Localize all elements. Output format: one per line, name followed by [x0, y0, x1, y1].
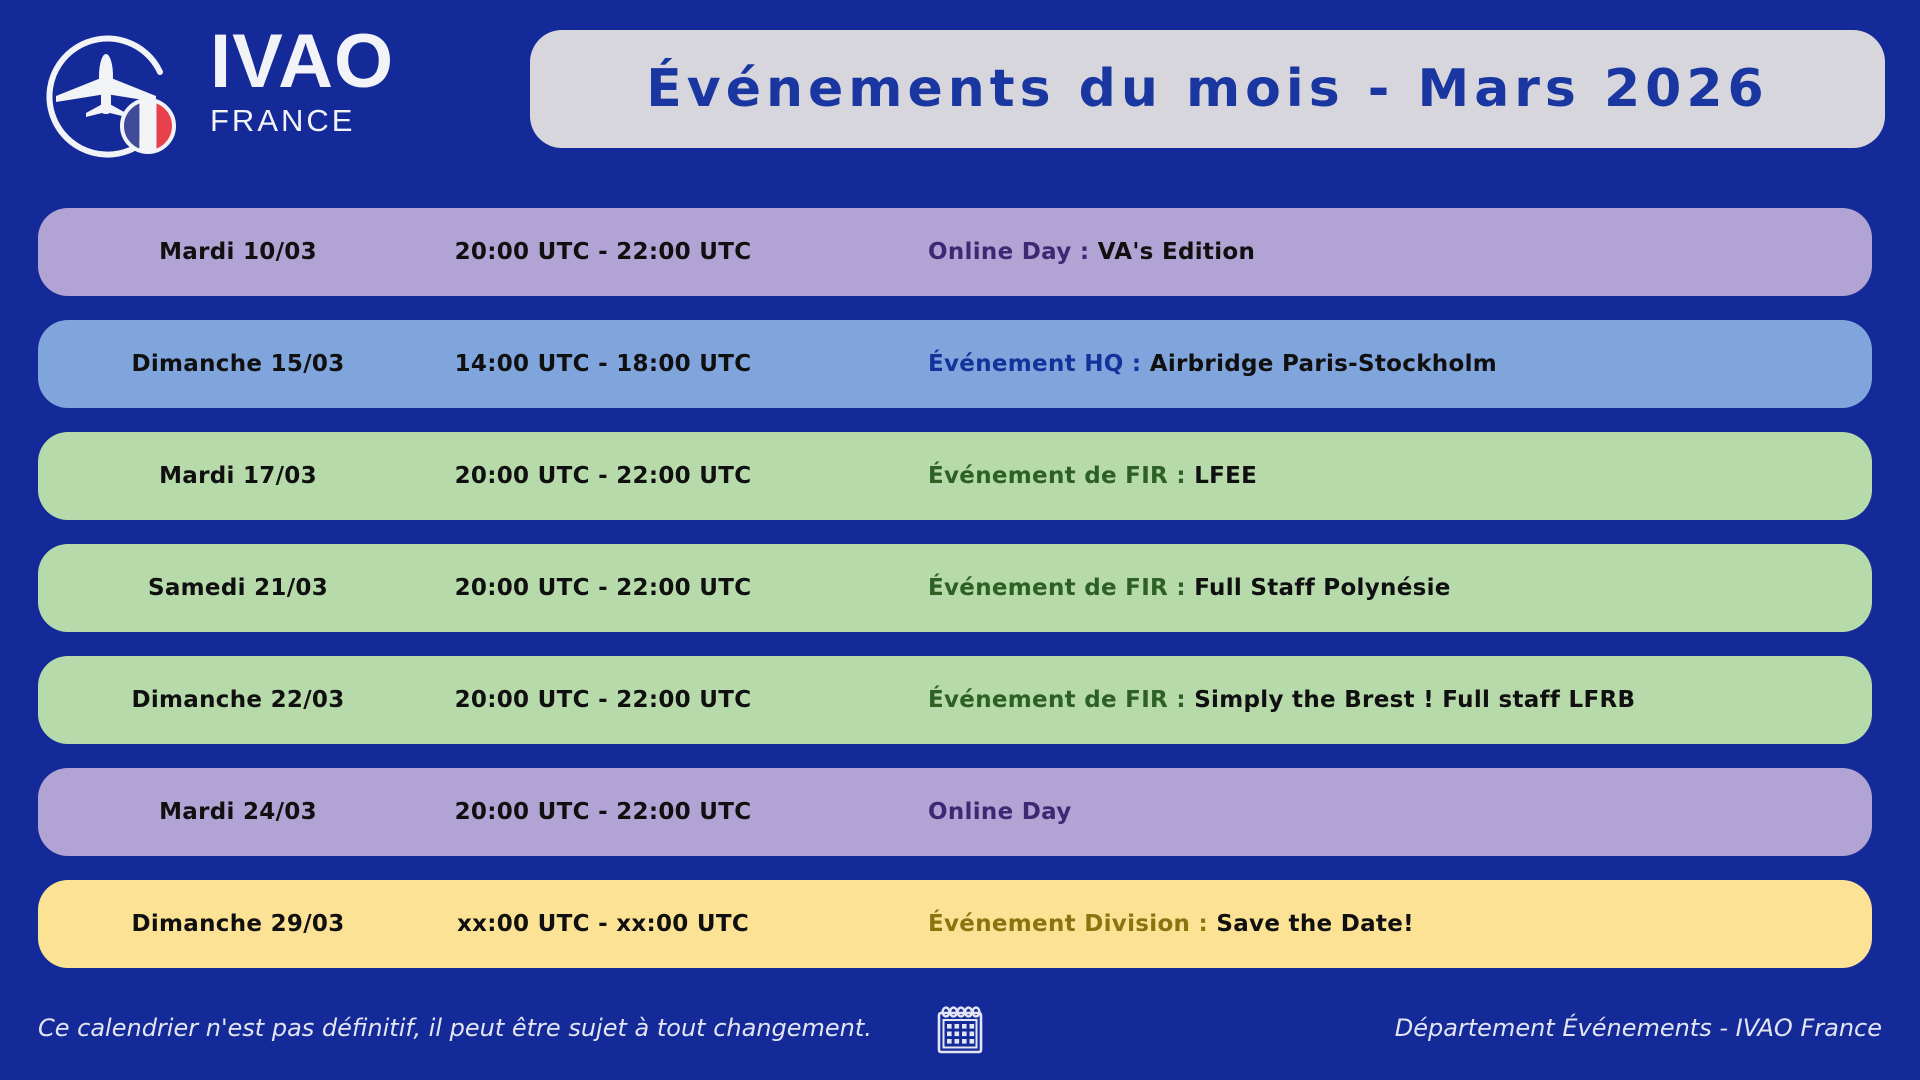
event-time: 14:00 UTC - 18:00 UTC — [438, 351, 768, 377]
event-title: Événement de FIR : Simply the Brest ! Fu… — [928, 687, 1635, 713]
event-date: Samedi 21/03 — [38, 575, 438, 601]
event-name: Airbridge Paris-Stockholm — [1150, 351, 1497, 377]
event-name: Full Staff Polynésie — [1194, 575, 1451, 601]
logo-brand-text: IVAO — [210, 24, 500, 100]
event-time: 20:00 UTC - 22:00 UTC — [438, 239, 768, 265]
event-category-label: Événement de FIR : — [928, 687, 1194, 713]
logo-division-text: FRANCE — [210, 104, 500, 138]
event-category-label: Événement de FIR : — [928, 575, 1194, 601]
french-flag-icon — [122, 100, 174, 152]
event-date: Mardi 10/03 — [38, 239, 438, 265]
event-row: Dimanche 29/03xx:00 UTC - xx:00 UTCÉvéne… — [38, 880, 1872, 968]
page-title: Événements du mois - Mars 2026 — [646, 59, 1768, 119]
event-date: Dimanche 15/03 — [38, 351, 438, 377]
event-title: Événement de FIR : Full Staff Polynésie — [928, 575, 1451, 601]
event-category-label: Événement Division : — [928, 911, 1216, 937]
event-category-label: Online Day : — [928, 239, 1098, 265]
event-time: xx:00 UTC - xx:00 UTC — [438, 911, 768, 937]
footer-disclaimer: Ce calendrier n'est pas définitif, il pe… — [38, 1014, 872, 1042]
event-name: LFEE — [1194, 463, 1257, 489]
event-row: Mardi 24/0320:00 UTC - 22:00 UTCOnline D… — [38, 768, 1872, 856]
page-footer: Ce calendrier n'est pas définitif, il pe… — [0, 996, 1920, 1066]
event-time: 20:00 UTC - 22:00 UTC — [438, 575, 768, 601]
event-date: Dimanche 29/03 — [38, 911, 438, 937]
event-title: Online Day — [928, 799, 1072, 825]
event-row: Mardi 17/0320:00 UTC - 22:00 UTCÉvénemen… — [38, 432, 1872, 520]
event-category-label: Événement HQ : — [928, 351, 1150, 377]
logo-wordmark: IVAO FRANCE — [210, 24, 500, 138]
event-title: Événement de FIR : LFEE — [928, 463, 1257, 489]
event-row: Dimanche 22/0320:00 UTC - 22:00 UTCÉvéne… — [38, 656, 1872, 744]
event-title: Online Day : VA's Edition — [928, 239, 1255, 265]
page-header: IVAO FRANCE Événements du mois - Mars 20… — [0, 0, 1920, 176]
event-name: Save the Date! — [1216, 911, 1414, 937]
event-row: Dimanche 15/0314:00 UTC - 18:00 UTCÉvéne… — [38, 320, 1872, 408]
event-row: Mardi 10/0320:00 UTC - 22:00 UTCOnline D… — [38, 208, 1872, 296]
calendar-icon — [933, 1004, 987, 1058]
event-row: Samedi 21/0320:00 UTC - 22:00 UTCÉvéneme… — [38, 544, 1872, 632]
event-time: 20:00 UTC - 22:00 UTC — [438, 687, 768, 713]
ivao-france-logo: IVAO FRANCE — [30, 6, 510, 166]
event-name: Simply the Brest ! Full staff LFRB — [1194, 687, 1635, 713]
event-date: Dimanche 22/03 — [38, 687, 438, 713]
event-title: Événement HQ : Airbridge Paris-Stockholm — [928, 351, 1497, 377]
event-date: Mardi 17/03 — [38, 463, 438, 489]
event-category-label: Online Day — [928, 799, 1072, 825]
ivao-globe-plane-logo — [38, 14, 188, 164]
event-time: 20:00 UTC - 22:00 UTC — [438, 463, 768, 489]
event-date: Mardi 24/03 — [38, 799, 438, 825]
footer-credit: Département Événements - IVAO France — [1395, 1014, 1882, 1042]
event-time: 20:00 UTC - 22:00 UTC — [438, 799, 768, 825]
event-title: Événement Division : Save the Date! — [928, 911, 1414, 937]
page-title-banner: Événements du mois - Mars 2026 — [530, 30, 1885, 148]
event-category-label: Événement de FIR : — [928, 463, 1194, 489]
event-name: VA's Edition — [1098, 239, 1256, 265]
events-table: Mardi 10/0320:00 UTC - 22:00 UTCOnline D… — [38, 208, 1872, 992]
